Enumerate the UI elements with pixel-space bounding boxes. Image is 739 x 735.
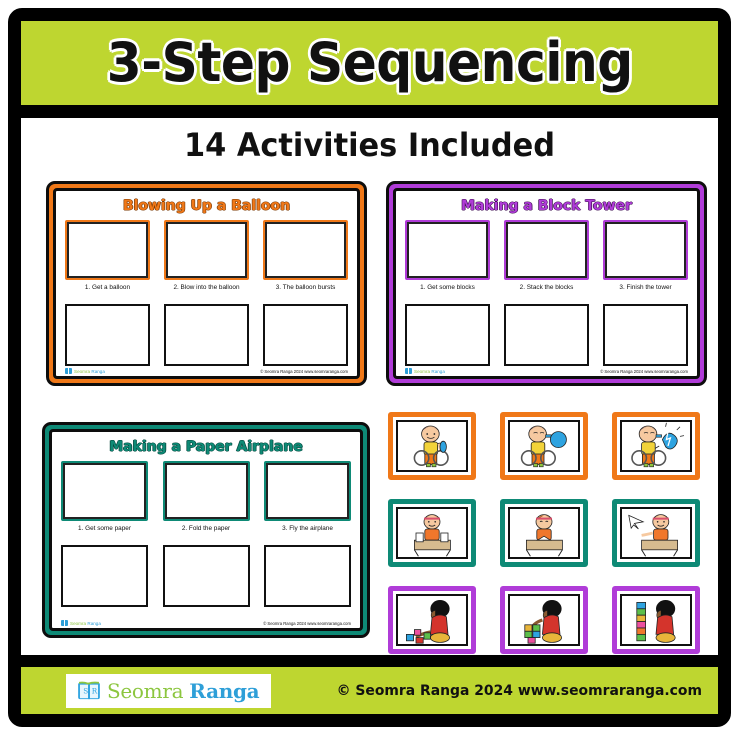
step-caption: 1. Get a balloon <box>65 283 150 302</box>
step-cell: 3. Fly the airplane <box>264 461 351 543</box>
step-picture-slot[interactable] <box>163 461 250 521</box>
answer-box[interactable] <box>405 304 490 366</box>
logo-word-ranga: Ranga <box>91 369 105 374</box>
picture-card-child-in-wheelchair-holding-balloon[interactable] <box>388 412 476 480</box>
page-title: 3-Step Sequencing <box>106 36 632 90</box>
step-caption: 1. Get some paper <box>61 524 148 543</box>
sheet-logo: Seomra Ranga <box>405 368 445 374</box>
step-picture-slot[interactable] <box>164 220 249 280</box>
step-cell: 1. Get some blocks <box>405 220 490 302</box>
illustration-get-blocks <box>398 596 466 644</box>
illustration-stack-blocks <box>510 596 578 644</box>
illustration-finished-tower <box>622 596 690 644</box>
step-cell: 2. Blow into the balloon <box>164 220 249 302</box>
sheet-logo: Seomra Ranga <box>61 620 101 626</box>
logo-word-seomra: Seomra <box>414 369 430 374</box>
brand-logo[interactable]: S R Seomra Ranga <box>66 674 271 708</box>
step-caption: 3. Finish the tower <box>603 283 688 302</box>
answer-box[interactable] <box>164 304 249 366</box>
worksheet-title: Making a Block Tower <box>405 199 688 214</box>
step-picture-slot[interactable] <box>264 461 351 521</box>
answer-box[interactable] <box>603 304 688 366</box>
answer-box[interactable] <box>163 545 250 607</box>
footer-copyright: © Seomra Ranga 2024 www.seomraranga.com <box>337 683 702 699</box>
step-caption: 3. Fly the airplane <box>264 524 351 543</box>
picture-card-child-stacking-blocks[interactable] <box>500 586 588 654</box>
step-caption: 2. Fold the paper <box>163 524 250 543</box>
step-picture-slot[interactable] <box>263 220 348 280</box>
logo-word-ranga: Ranga <box>431 369 445 374</box>
step-picture-slot[interactable] <box>504 220 589 280</box>
illustration-fly-airplane <box>622 509 690 557</box>
sheet-copyright: © Seomra Ranga 2024 www.seomraranga.com <box>263 621 351 626</box>
svg-text:R: R <box>92 687 98 696</box>
step-caption: 1. Get some blocks <box>405 283 490 302</box>
step-picture-slot[interactable] <box>61 461 148 521</box>
logo-word-ranga: Ranga <box>87 621 101 626</box>
illustration-balloon-burst <box>622 422 690 470</box>
step-picture-slot[interactable] <box>405 220 490 280</box>
illustration-balloon-hold <box>398 422 466 470</box>
step-picture-slot[interactable] <box>65 220 150 280</box>
step-cell: 3. Finish the tower <box>603 220 688 302</box>
sheet-copyright: © Seomra Ranga 2024 www.seomraranga.com <box>600 369 688 374</box>
answer-box[interactable] <box>504 304 589 366</box>
svg-text:S: S <box>83 687 88 696</box>
page-footer: S R Seomra Ranga © Seomra Ranga 2024 www… <box>21 667 718 714</box>
picture-card-child-with-loose-blocks[interactable] <box>388 586 476 654</box>
poster: 3-Step Sequencing 14 Activities Included… <box>0 0 739 735</box>
worksheet-card-making-a-paper-airplane[interactable]: Making a Paper Airplane 1. Get some pape… <box>42 422 370 638</box>
answer-box[interactable] <box>65 304 150 366</box>
step-cell: 3. The balloon bursts <box>263 220 348 302</box>
title-banner: 3-Step Sequencing <box>21 21 718 105</box>
answer-box[interactable] <box>264 545 351 607</box>
illustration-balloon-blow <box>510 422 578 470</box>
brand-word-seomra: Seomra <box>107 679 183 703</box>
sheet-copyright: © Seomra Ranga 2024 www.seomraranga.com <box>260 369 348 374</box>
footer-divider <box>21 655 718 667</box>
worksheet-title: Blowing Up a Balloon <box>65 199 348 214</box>
logo-word-seomra: Seomra <box>74 369 90 374</box>
book-icon: S R <box>78 681 100 700</box>
illustration-get-paper <box>398 509 466 557</box>
picture-card-child-with-finished-block-tower[interactable] <box>612 586 700 654</box>
step-cell: 1. Get a balloon <box>65 220 150 302</box>
picture-card-child-at-desk-flying-paper-airplane[interactable] <box>612 499 700 567</box>
picture-card-child-at-desk-holding-paper[interactable] <box>388 499 476 567</box>
picture-card-child-at-desk-folding-paper[interactable] <box>500 499 588 567</box>
answer-box[interactable] <box>61 545 148 607</box>
banner-divider <box>21 105 718 118</box>
step-caption: 2. Blow into the balloon <box>164 283 249 302</box>
step-caption: 3. The balloon bursts <box>263 283 348 302</box>
worksheet-card-blowing-up-a-balloon[interactable]: Blowing Up a Balloon 1. Get a balloon 2.… <box>46 181 367 386</box>
picture-card-child-in-wheelchair-blowing-balloon[interactable] <box>500 412 588 480</box>
logo-word-seomra: Seomra <box>70 621 86 626</box>
worksheet-card-making-a-block-tower[interactable]: Making a Block Tower 1. Get some blocks … <box>386 181 707 386</box>
step-cell: 2. Fold the paper <box>163 461 250 543</box>
page-subtitle: 14 Activities Included <box>38 126 700 164</box>
picture-card-grid <box>388 412 700 654</box>
illustration-fold-paper <box>510 509 578 557</box>
answer-box[interactable] <box>263 304 348 366</box>
book-icon <box>65 368 72 374</box>
step-cell: 1. Get some paper <box>61 461 148 543</box>
step-picture-slot[interactable] <box>603 220 688 280</box>
sheet-logo: Seomra Ranga <box>65 368 105 374</box>
book-icon <box>405 368 412 374</box>
book-icon <box>61 620 68 626</box>
picture-card-child-in-wheelchair-balloon-bursting[interactable] <box>612 412 700 480</box>
brand-word-ranga: Ranga <box>189 679 259 703</box>
step-caption: 2. Stack the blocks <box>504 283 589 302</box>
step-cell: 2. Stack the blocks <box>504 220 589 302</box>
worksheet-title: Making a Paper Airplane <box>61 440 351 455</box>
